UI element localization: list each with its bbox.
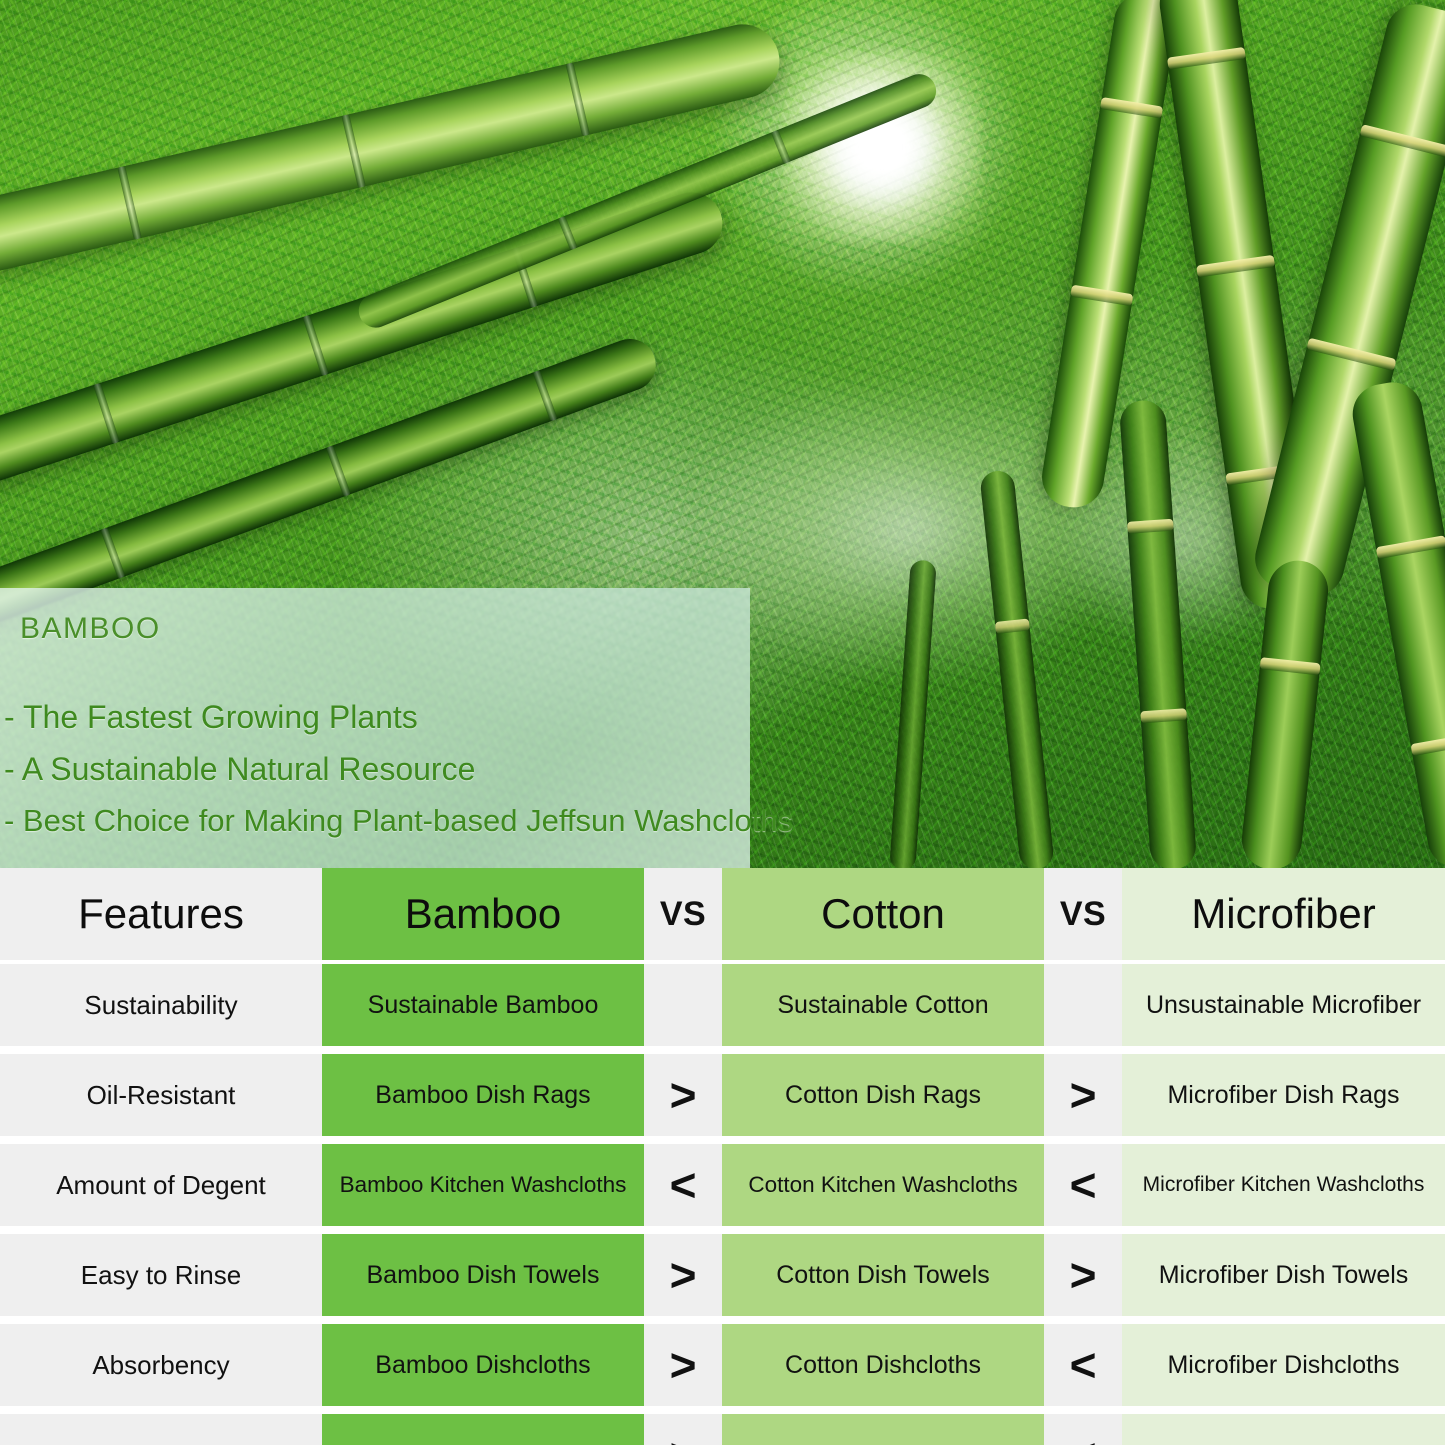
table-header-row: Features Bamboo VS Cotton VS Microfiber (0, 868, 1445, 960)
overlay-bullet-3: - Best Choice for Making Plant-based Jef… (4, 803, 793, 839)
comparison-operator-icon: > (670, 1252, 697, 1298)
row-feature-cell: Sustainability (0, 964, 322, 1046)
row-microfiber-cell: Microfiber Kitchen Washcloths (1122, 1144, 1445, 1226)
row-microfiber-cell: Unsustainable Microfiber (1122, 964, 1445, 1046)
row-microfiber-cell: Microfiber Dish Towels (1122, 1234, 1445, 1316)
row-feature-label: Easy to Rinse (81, 1260, 241, 1291)
row-microfiber-value: Unsustainable Microfiber (1146, 991, 1421, 1020)
row-feature-label: Amount of Degent (56, 1170, 266, 1201)
row-microfiber-value: Microfiber Dishcloths (1167, 1351, 1399, 1380)
overlay-bullet-2: - A Sustainable Natural Resource (4, 751, 475, 788)
table-row: Quick Dry Bamboo Cleaning Cloths > Cotto… (0, 1414, 1445, 1445)
row-operator-2-cell: > (1044, 1234, 1122, 1316)
comparison-operator-icon: > (670, 1342, 697, 1388)
row-bamboo-cell: Bamboo Dish Towels (322, 1234, 644, 1316)
row-operator-2-cell (1044, 964, 1122, 1046)
row-cotton-cell: Cotton Dish Towels (722, 1234, 1044, 1316)
overlay-bullet-1: - The Fastest Growing Plants (4, 699, 418, 736)
table-row: Oil-Resistant Bamboo Dish Rags > Cotton … (0, 1054, 1445, 1136)
bamboo-forest-photo: BAMBOO - The Fastest Growing Plants - A … (0, 0, 1445, 868)
row-cotton-value: Cotton Dish Rags (785, 1081, 981, 1110)
row-bamboo-value: Bamboo Dish Rags (375, 1081, 590, 1110)
comparison-operator-icon: < (1070, 1162, 1097, 1208)
comparison-operator-icon: > (1070, 1072, 1097, 1118)
header-cell-vs-2: VS (1044, 868, 1122, 960)
header-cell-cotton: Cotton (722, 868, 1044, 960)
table-row: Amount of Degent Bamboo Kitchen Washclot… (0, 1144, 1445, 1226)
row-cotton-cell: Cotton Dishcloths (722, 1324, 1044, 1406)
header-cell-bamboo: Bamboo (322, 868, 644, 960)
row-bamboo-value: Sustainable Bamboo (368, 991, 599, 1020)
row-feature-cell: Oil-Resistant (0, 1054, 322, 1136)
comparison-operator-icon: < (670, 1162, 697, 1208)
row-cotton-value: Sustainable Cotton (777, 991, 988, 1020)
row-microfiber-cell: Microfiber Dishcloths (1122, 1324, 1445, 1406)
row-feature-label: Oil-Resistant (87, 1080, 236, 1111)
row-feature-cell: Absorbency (0, 1324, 322, 1406)
vs-label-1: VS (660, 895, 706, 934)
row-feature-label: Quick Dry (104, 1440, 218, 1445)
table-row: Absorbency Bamboo Dishcloths > Cotton Di… (0, 1324, 1445, 1406)
row-operator-1-cell: > (644, 1414, 722, 1445)
row-cotton-cell: Sustainable Cotton (722, 964, 1044, 1046)
row-operator-2-cell: < (1044, 1414, 1122, 1445)
row-microfiber-cell: Microfiber Dish Rags (1122, 1054, 1445, 1136)
header-label-cotton: Cotton (821, 890, 945, 938)
vs-label-2: VS (1060, 895, 1106, 934)
overlay-title: BAMBOO (20, 612, 161, 646)
comparison-operator-icon: > (670, 1072, 697, 1118)
bamboo-info-overlay-panel: BAMBOO - The Fastest Growing Plants - A … (0, 588, 750, 868)
comparison-table: Features Bamboo VS Cotton VS Microfiber … (0, 868, 1445, 1445)
header-label-microfiber: Microfiber (1191, 890, 1375, 938)
row-cotton-cell: Cotton Dish Rags (722, 1054, 1044, 1136)
header-cell-features: Features (0, 868, 322, 960)
row-cotton-value: Cotton Dishcloths (785, 1351, 981, 1380)
row-bamboo-cell: Bamboo Kitchen Washcloths (322, 1144, 644, 1226)
header-cell-vs-1: VS (644, 868, 722, 960)
row-operator-2-cell: < (1044, 1324, 1122, 1406)
row-bamboo-cell: Bamboo Dish Rags (322, 1054, 644, 1136)
row-feature-cell: Amount of Degent (0, 1144, 322, 1226)
row-microfiber-cell: Microfiber Cleaning Cloths (1122, 1414, 1445, 1445)
row-bamboo-value: Bamboo Kitchen Washcloths (340, 1172, 627, 1198)
row-operator-1-cell: > (644, 1054, 722, 1136)
row-feature-label: Sustainability (84, 990, 237, 1021)
comparison-operator-icon: < (1070, 1432, 1097, 1445)
header-label-features: Features (78, 890, 244, 938)
row-feature-cell: Easy to Rinse (0, 1234, 322, 1316)
row-bamboo-cell: Sustainable Bamboo (322, 964, 644, 1046)
row-operator-2-cell: < (1044, 1144, 1122, 1226)
row-bamboo-cell: Bamboo Dishcloths (322, 1324, 644, 1406)
row-bamboo-value: Bamboo Dish Towels (367, 1261, 600, 1290)
header-cell-microfiber: Microfiber (1122, 868, 1445, 960)
row-cotton-cell: Cotton Cleaning Cloths (722, 1414, 1044, 1445)
comparison-operator-icon: > (1070, 1252, 1097, 1298)
comparison-operator-icon: > (670, 1432, 697, 1445)
table-row: Easy to Rinse Bamboo Dish Towels > Cotto… (0, 1234, 1445, 1316)
row-cotton-value: Cotton Dish Towels (776, 1261, 990, 1290)
row-operator-2-cell: > (1044, 1054, 1122, 1136)
row-microfiber-value: Microfiber Kitchen Washcloths (1143, 1173, 1425, 1197)
row-operator-1-cell: > (644, 1234, 722, 1316)
product-infographic: BAMBOO - The Fastest Growing Plants - A … (0, 0, 1445, 1445)
row-bamboo-value: Bamboo Dishcloths (375, 1351, 590, 1380)
row-operator-1-cell (644, 964, 722, 1046)
row-feature-cell: Quick Dry (0, 1414, 322, 1445)
row-operator-1-cell: < (644, 1144, 722, 1226)
comparison-operator-icon: < (1070, 1342, 1097, 1388)
row-cotton-value: Cotton Kitchen Washcloths (748, 1172, 1017, 1198)
row-microfiber-value: Microfiber Dish Towels (1159, 1261, 1409, 1290)
row-microfiber-value: Microfiber Dish Rags (1167, 1081, 1399, 1110)
row-bamboo-cell: Bamboo Cleaning Cloths (322, 1414, 644, 1445)
row-cotton-cell: Cotton Kitchen Washcloths (722, 1144, 1044, 1226)
row-operator-1-cell: > (644, 1324, 722, 1406)
row-feature-label: Absorbency (92, 1350, 229, 1381)
table-row: Sustainability Sustainable Bamboo Sustai… (0, 964, 1445, 1046)
header-label-bamboo: Bamboo (405, 890, 561, 938)
